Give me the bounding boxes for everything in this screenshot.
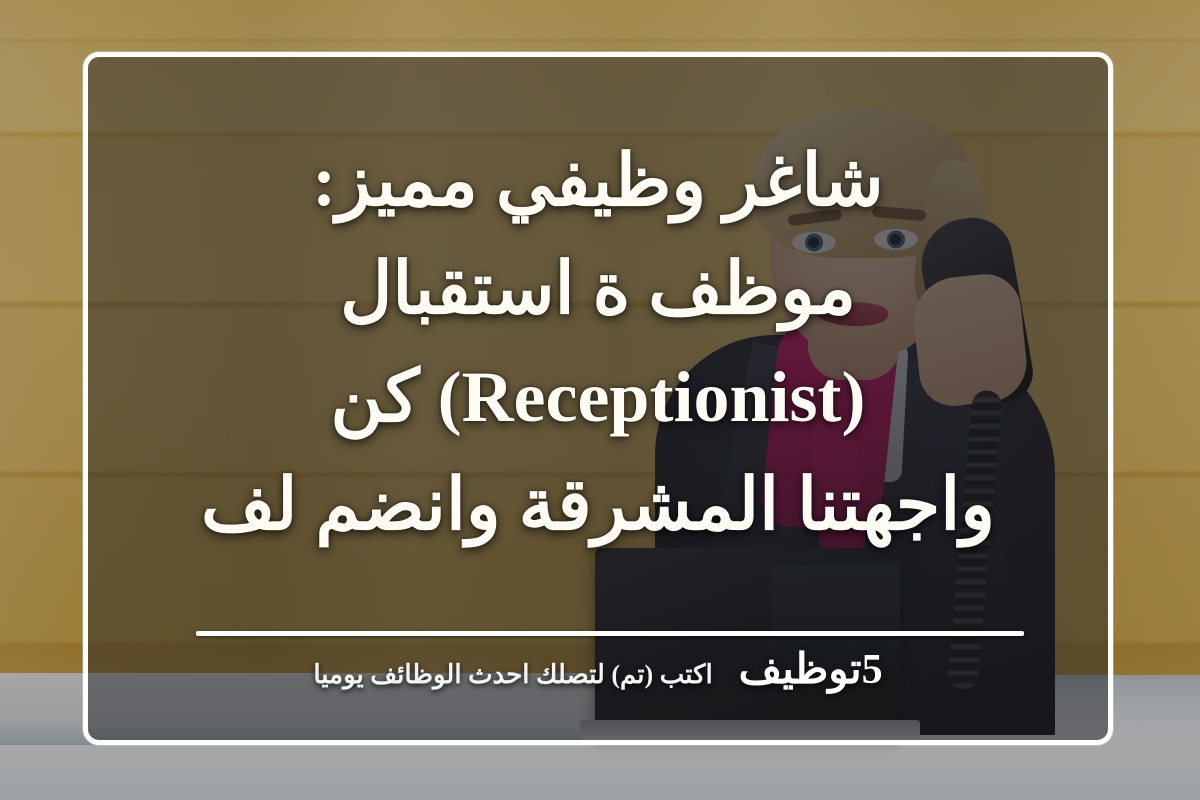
headline-line-2: موظف ة استقبال	[90, 235, 1106, 343]
footer-bar: 5توظيف اكتب (تم) لتصلك احدث الوظائف يومي…	[88, 628, 1108, 740]
footer-tagline: اكتب (تم) لتصلك احدث الوظائف يوميا	[313, 655, 712, 695]
advertisement-banner: شاغر وظيفي مميز: موظف ة استقبال (Recepti…	[0, 0, 1200, 800]
headline-block: شاغر وظيفي مميز: موظف ة استقبال (Recepti…	[90, 58, 1106, 628]
brand-name: 5توظيف	[739, 644, 883, 696]
horizontal-separator	[196, 631, 1024, 636]
headline-line-4: واجهتنا المشرقة وانضم لف	[90, 451, 1106, 559]
headline-line-1: شاغر وظيفي مميز:	[90, 127, 1106, 235]
headline-line-3: (Receptionist) كن	[90, 343, 1106, 451]
brand-row: 5توظيف اكتب (تم) لتصلك احدث الوظائف يومي…	[88, 644, 1108, 696]
